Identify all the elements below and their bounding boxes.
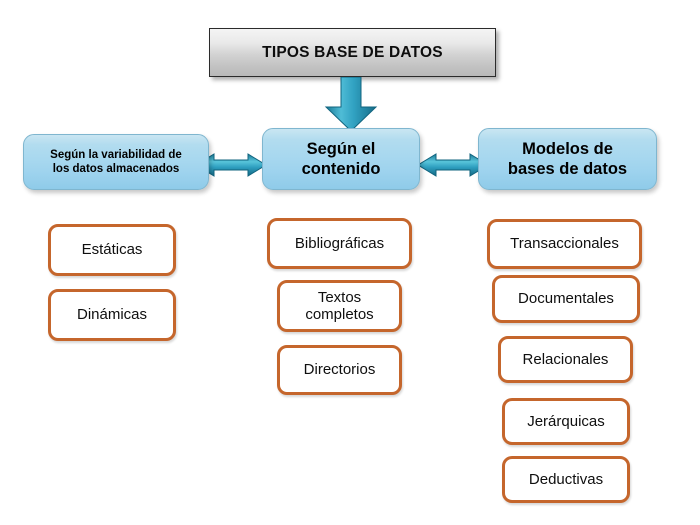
leaf-box-textos-completos[interactable]: Textoscompletos <box>277 280 402 332</box>
leaf-box-estaticas[interactable]: Estáticas <box>48 224 176 276</box>
diagram-title-label: TIPOS BASE DE DATOS <box>262 44 443 62</box>
leaf-box-label: Textoscompletos <box>305 289 373 324</box>
leaf-box-dinamicas[interactable]: Dinámicas <box>48 289 176 341</box>
leaf-box-label: Transaccionales <box>510 235 619 252</box>
leaf-box-label: Bibliográficas <box>295 235 384 252</box>
branch-heading-label: Según elcontenido <box>302 139 381 179</box>
leaf-box-label: Dinámicas <box>77 306 147 323</box>
arrow-down-icon <box>318 77 384 133</box>
leaf-box-deductivas[interactable]: Deductivas <box>502 456 630 503</box>
leaf-box-label: Estáticas <box>82 241 143 258</box>
leaf-box-label: Directorios <box>304 361 376 378</box>
leaf-box-jerarquicas[interactable]: Jerárquicas <box>502 398 630 445</box>
leaf-box-label: Documentales <box>518 290 614 307</box>
diagram-title-box: TIPOS BASE DE DATOS <box>209 28 496 77</box>
leaf-box-bibliograficas[interactable]: Bibliográficas <box>267 218 412 269</box>
leaf-box-transaccionales[interactable]: Transaccionales <box>487 219 642 269</box>
branch-heading-label: Según la variabilidad delos datos almace… <box>50 148 182 176</box>
diagram-canvas: TIPOS BASE DE DATOS <box>0 0 700 525</box>
branch-heading-label: Modelos debases de datos <box>508 139 627 179</box>
branch-heading-modelos[interactable]: Modelos debases de datos <box>478 128 657 190</box>
leaf-box-label: Jerárquicas <box>527 413 605 430</box>
leaf-box-directorios[interactable]: Directorios <box>277 345 402 395</box>
leaf-box-label: Deductivas <box>529 471 603 488</box>
leaf-box-documentales[interactable]: Documentales <box>492 275 640 323</box>
branch-heading-variabilidad[interactable]: Según la variabilidad delos datos almace… <box>23 134 209 190</box>
leaf-box-label: Relacionales <box>523 351 609 368</box>
branch-heading-contenido[interactable]: Según elcontenido <box>262 128 420 190</box>
leaf-box-relacionales[interactable]: Relacionales <box>498 336 633 383</box>
